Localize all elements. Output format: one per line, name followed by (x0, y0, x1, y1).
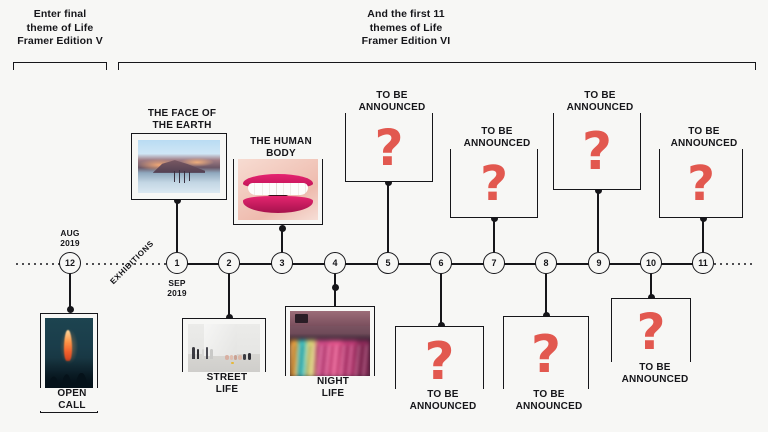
stem-dot-night-life (332, 284, 339, 291)
bracket-edition-v (13, 62, 107, 70)
timeline-node-7[interactable]: 7 (483, 252, 505, 274)
node-number: 1 (174, 259, 179, 268)
header-note-edition-v: Enter final theme of Life Framer Edition… (0, 8, 120, 49)
question-mark-icon: ? (612, 307, 690, 357)
timeline-node-1[interactable]: 1 (166, 252, 188, 274)
card-title-tba-10: TO BE ANNOUNCED (608, 362, 702, 385)
stem-tba-9 (597, 190, 599, 252)
timeline-node-6[interactable]: 6 (430, 252, 452, 274)
card-tba-10[interactable]: ? (611, 298, 691, 372)
node-number: 3 (279, 259, 284, 268)
header-note-edition-vi: And the first 11 themes of Life Framer E… (316, 8, 496, 49)
node-number: 9 (596, 259, 601, 268)
card-human-body[interactable] (233, 153, 323, 225)
timeline-node-11[interactable]: 11 (692, 252, 714, 274)
card-tba-9[interactable]: ? (553, 112, 641, 190)
card-title-night-life: NIGHT LIFE (284, 376, 382, 399)
question-mark-icon: ? (451, 160, 537, 208)
axis-dotted-segment-right (712, 263, 756, 265)
card-title-open-call: OPEN CALL (39, 388, 105, 411)
card-title-tba-7: TO BE ANNOUNCED (449, 126, 545, 149)
bracket-edition-vi (118, 62, 756, 70)
node-number: 4 (332, 259, 337, 268)
timeline-node-2[interactable]: 2 (218, 252, 240, 274)
stem-dot-human-body (279, 225, 286, 232)
card-face-of-the-earth[interactable] (131, 133, 227, 200)
stem-face-earth (176, 200, 178, 252)
question-mark-icon: ? (660, 160, 742, 208)
timeline-node-5[interactable]: 5 (377, 252, 399, 274)
timeline-node-3[interactable]: 3 (271, 252, 293, 274)
timeline-node-9[interactable]: 9 (588, 252, 610, 274)
stem-tba-5 (387, 182, 389, 252)
node-number: 10 (646, 259, 656, 268)
stem-tba-11 (702, 218, 704, 252)
stem-tba-7 (493, 218, 495, 252)
card-title-tba-6: TO BE ANNOUNCED (394, 389, 492, 412)
question-mark-icon: ? (346, 123, 432, 173)
timeline-node-10[interactable]: 10 (640, 252, 662, 274)
card-title-tba-9: TO BE ANNOUNCED (552, 90, 648, 113)
card-tba-7[interactable]: ? (450, 148, 538, 218)
node-number: 7 (491, 259, 496, 268)
card-tba-11[interactable]: ? (659, 148, 743, 218)
node-number: 11 (698, 259, 708, 268)
node-date-aug-2019: AUG 2019 (40, 228, 100, 248)
stem-tba-8 (545, 274, 547, 316)
timeline-node-8[interactable]: 8 (535, 252, 557, 274)
question-mark-icon: ? (504, 329, 588, 381)
card-title-tba-8: TO BE ANNOUNCED (502, 389, 596, 412)
card-title-tba-5: TO BE ANNOUNCED (344, 90, 440, 113)
street-life-photo (188, 324, 260, 372)
stem-dot-open-call (67, 306, 74, 313)
stem-tba-6 (440, 274, 442, 326)
timeline-infographic: Enter final theme of Life Framer Edition… (0, 0, 768, 432)
human-body-photo (238, 158, 318, 220)
face-of-the-earth-photo (138, 140, 220, 193)
node-number: 12 (65, 259, 75, 268)
stem-street-life (228, 274, 230, 318)
node-number: 6 (438, 259, 443, 268)
card-title-tba-11: TO BE ANNOUNCED (656, 126, 752, 149)
question-mark-icon: ? (554, 126, 640, 178)
node-number: 2 (226, 259, 231, 268)
node-number: 8 (543, 259, 548, 268)
card-title-street-life: STREET LIFE (181, 372, 273, 395)
timeline-node-12[interactable]: 12 (59, 252, 81, 274)
node-number: 5 (385, 259, 390, 268)
open-call-photo (45, 318, 93, 390)
card-title-face-of-the-earth: THE FACE OF THE EARTH (129, 108, 235, 131)
node-date-sep-2019: SEP 2019 (147, 278, 207, 298)
card-tba-5[interactable]: ? (345, 112, 433, 182)
question-mark-icon: ? (396, 336, 483, 388)
timeline-node-4[interactable]: 4 (324, 252, 346, 274)
card-title-human-body: THE HUMAN BODY (231, 136, 331, 159)
night-life-photo (290, 311, 370, 377)
card-tba-8[interactable]: ? (503, 316, 589, 400)
stem-open-call (69, 274, 71, 310)
